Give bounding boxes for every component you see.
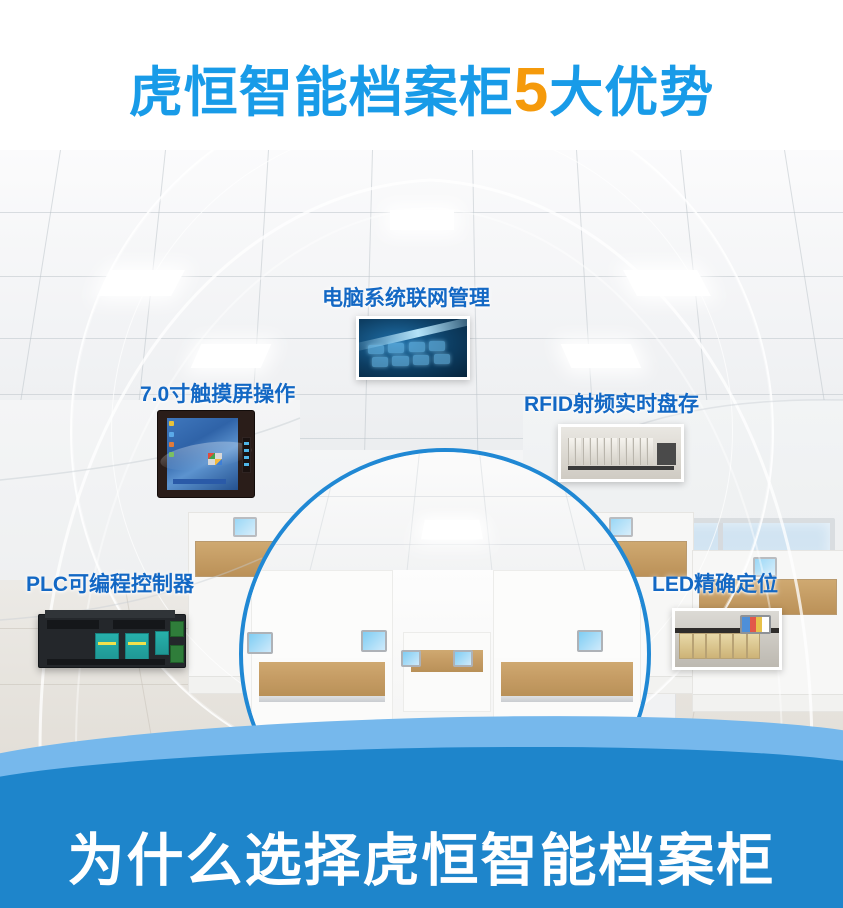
led-shelf-icon: [675, 611, 779, 667]
hero-cabinet-screen: [577, 630, 603, 652]
feature-thumb-rfid[interactable]: [558, 424, 684, 482]
feature-label-computer-network: 电脑系统联网管理: [322, 282, 490, 312]
feature-plc[interactable]: PLC可编程控制器: [26, 568, 194, 598]
blue-keyboard-icon: [359, 319, 467, 377]
feature-thumb-touchscreen[interactable]: [157, 410, 253, 496]
hero-cabinet-screen: [247, 632, 273, 654]
hero-cabinet-screen: [401, 650, 421, 667]
page-title-highlight: 5: [514, 56, 549, 125]
hero-cabinet-far: [403, 632, 491, 712]
feature-thumb-led[interactable]: [672, 608, 782, 670]
feature-label-plc: PLC可编程控制器: [26, 568, 194, 598]
plc-module-icon: [38, 614, 186, 668]
feature-thumb-computer-network[interactable]: [356, 316, 470, 380]
feature-computer-network[interactable]: 电脑系统联网管理: [322, 282, 490, 312]
page-title-text: 虎恒智能档案柜5大优势: [129, 52, 714, 132]
poster-root: 虎恒智能档案柜5大优势: [0, 0, 843, 908]
feature-label-touchscreen: 7.0寸触摸屏操作: [140, 378, 295, 408]
hero-cabinet-screen: [453, 650, 473, 667]
feature-rfid[interactable]: RFID射频实时盘存: [524, 388, 699, 418]
page-title-tail: 大优势: [549, 63, 714, 123]
rfid-rack-icon: [561, 427, 681, 479]
feature-led[interactable]: LED精确定位: [652, 568, 778, 598]
feature-touchscreen[interactable]: 7.0寸触摸屏操作: [140, 378, 295, 408]
hero-cabinet-screen: [361, 630, 387, 652]
touch-panel-icon: [157, 410, 255, 498]
footer-title-text: 为什么选择虎恒智能档案柜: [68, 816, 776, 906]
led-mini-display: [740, 615, 771, 634]
feature-label-led: LED精确定位: [652, 568, 778, 598]
ceiling-light: [561, 344, 642, 368]
ceiling-light: [390, 210, 454, 230]
ceiling-light: [97, 270, 185, 296]
ceiling-light: [191, 344, 272, 368]
page-title-main: 虎恒智能档案柜: [129, 63, 514, 123]
feature-label-rfid: RFID射频实时盘存: [524, 388, 699, 418]
ceiling-light: [623, 270, 711, 296]
page-title: 虎恒智能档案柜5大优势: [0, 52, 843, 132]
feature-thumb-plc[interactable]: [38, 608, 188, 670]
footer-title: 为什么选择虎恒智能档案柜: [0, 816, 843, 908]
